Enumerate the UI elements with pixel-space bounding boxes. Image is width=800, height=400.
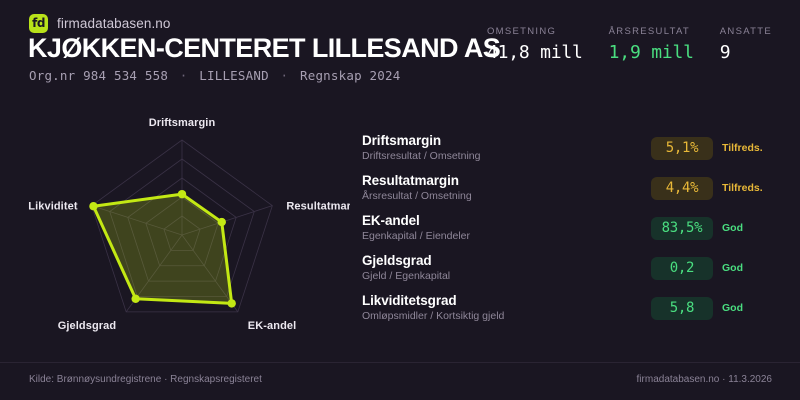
metric-row-resultatmargin: Resultatmargin Årsresultat / Omsetning 4… [362,168,780,208]
radar-chart: DriftsmarginResultatmarginEK-andelGjelds… [0,86,350,348]
metric-formula: Årsresultat / Omsetning [362,189,651,203]
metric-value-badge: 83,5% [651,217,713,240]
metric-name: EK-andel [362,213,651,228]
kpi-omsetning-label: OMSETNING [487,26,583,37]
radar-point-ek-andel [228,299,236,307]
radar-point-resultatmargin [218,218,226,226]
radar-label-ek-andel: EK-andel [248,320,296,332]
status-badge: Tilfreds. [722,142,780,154]
metric-value-badge: 5,8 [651,297,713,320]
footer-credit: firmadatabasen.no · 11.3.2026 [637,374,772,385]
metric-formula: Egenkapital / Eiendeler [362,229,651,243]
header: fd firmadatabasen.no KJØKKEN-CENTERET LI… [0,0,800,88]
metric-right: 83,5% God [651,217,780,240]
brand-logo[interactable]: fd firmadatabasen.no [29,14,171,33]
metric-text: Resultatmargin Årsresultat / Omsetning [362,173,651,203]
metric-name: Likviditetsgrad [362,293,651,308]
radar-label-resultatmargin: Resultatmargin [286,201,350,213]
brand-name: firmadatabasen.no [57,16,171,31]
page-title: KJØKKEN-CENTERET LILLESAND AS [28,33,500,64]
kpi-arsresultat-label: ÅRSRESULTAT [609,26,694,37]
company-place: LILLESAND [199,68,269,83]
metrics-list: Driftsmargin Driftsresultat / Omsetning … [362,128,780,328]
status-badge: God [722,262,780,274]
metric-formula: Omløpsmidler / Kortsiktig gjeld [362,309,651,323]
meta-separator-2: · [277,68,293,83]
metric-value-badge: 5,1% [651,137,713,160]
report-card: fd firmadatabasen.no KJØKKEN-CENTERET LI… [0,0,800,400]
metric-text: Driftsmargin Driftsresultat / Omsetning [362,133,651,163]
metric-text: EK-andel Egenkapital / Eiendeler [362,213,651,243]
radar-label-driftsmargin: Driftsmargin [149,117,216,129]
kpi-ansatte: ANSATTE 9 [720,26,772,63]
radar-chart-svg: DriftsmarginResultatmarginEK-andelGjelds… [0,86,350,348]
metric-right: 0,2 God [651,257,780,280]
footer-source: Kilde: Brønnøysundregistrene · Regnskaps… [29,374,262,385]
kpi-ansatte-value: 9 [720,42,772,63]
kpi-omsetning: OMSETNING 41,8 mill [487,26,583,63]
metric-value-badge: 0,2 [651,257,713,280]
status-badge: Tilfreds. [722,182,780,194]
metric-text: Likviditetsgrad Omløpsmidler / Kortsikti… [362,293,651,323]
company-period: Regnskap 2024 [300,68,400,83]
metric-right: 4,4% Tilfreds. [651,177,780,200]
kpi-ansatte-label: ANSATTE [720,26,772,37]
radar-series-area [93,194,231,303]
radar-point-driftsmargin [178,190,186,198]
metric-name: Resultatmargin [362,173,651,188]
metric-row-driftsmargin: Driftsmargin Driftsresultat / Omsetning … [362,128,780,168]
radar-point-gjeldsgrad [131,295,139,303]
metric-value-badge: 4,4% [651,177,713,200]
metric-text: Gjeldsgrad Gjeld / Egenkapital [362,253,651,283]
status-badge: God [722,222,780,234]
metric-row-gjeldsgrad: Gjeldsgrad Gjeld / Egenkapital 0,2 God [362,248,780,288]
kpi-omsetning-value: 41,8 mill [487,42,583,63]
kpi-arsresultat: ÅRSRESULTAT 1,9 mill [609,26,694,63]
metric-formula: Gjeld / Egenkapital [362,269,651,283]
kpi-arsresultat-value: 1,9 mill [609,42,694,63]
metric-right: 5,1% Tilfreds. [651,137,780,160]
metric-name: Gjeldsgrad [362,253,651,268]
radar-label-likviditet: Likviditet [28,201,78,213]
radar-series-polygon [93,194,231,303]
metric-right: 5,8 God [651,297,780,320]
footer: Kilde: Brønnøysundregistrene · Regnskaps… [0,362,800,400]
company-meta: Org.nr 984 534 558 · LILLESAND · Regnska… [29,68,400,83]
status-badge: God [722,302,780,314]
firmadatabasen-logo-icon: fd [29,14,48,33]
metric-name: Driftsmargin [362,133,651,148]
radar-point-likviditet [89,202,97,210]
metric-formula: Driftsresultat / Omsetning [362,149,651,163]
metric-row-likviditetsgrad: Likviditetsgrad Omløpsmidler / Kortsikti… [362,288,780,328]
metric-row-ek-andel: EK-andel Egenkapital / Eiendeler 83,5% G… [362,208,780,248]
kpi-group: OMSETNING 41,8 mill ÅRSRESULTAT 1,9 mill… [487,26,772,63]
radar-label-gjeldsgrad: Gjeldsgrad [58,320,116,332]
meta-separator-1: · [176,68,192,83]
company-orgnr: Org.nr 984 534 558 [29,68,168,83]
